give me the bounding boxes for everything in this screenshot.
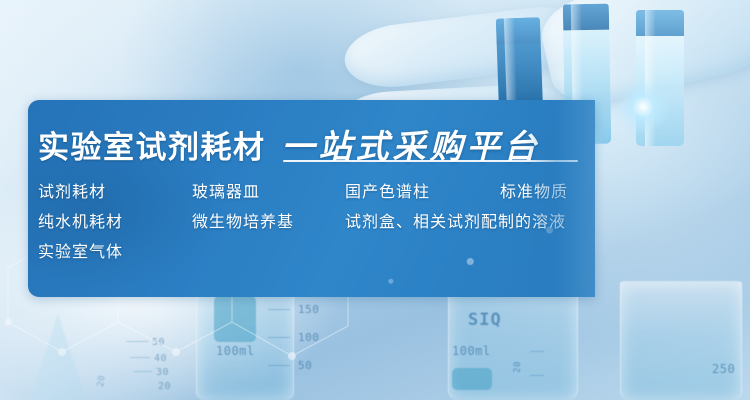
graduation-mark [530,375,544,377]
graduation-label-50b: 50 [298,359,312,372]
graduation-label-20: 20 [158,381,171,392]
tube-cap [563,4,609,31]
graduation-label-250b: 250 [712,362,735,376]
headline-main-text: 实验室试剂耗材 [38,122,266,167]
graduation-label-50: 50 [152,337,165,348]
headline-underline [283,160,578,162]
promotional-banner: 50 40 30 20 20 250 APPROX 200 150 100 50… [0,0,750,400]
graduation-mark [130,357,150,359]
graduation-mark [530,351,544,353]
graduation-label-100ml: 100ml [452,344,491,358]
flask-left [30,314,86,400]
beaker-brand-label: SIQ [468,310,502,330]
content-panel: 实验室试剂耗材 一站式采购平台 试剂耗材 玻璃器皿 国产色谱柱 标准物质 纯水机… [28,100,595,297]
graduation-label-gg17-left: 20 [96,374,108,387]
keyword-item[interactable]: 实验室气体 [38,238,123,268]
graduation-mark [126,341,148,343]
graduation-mark [268,365,290,367]
tube-cap [496,17,541,45]
keyword-item[interactable]: 试剂盒、相关试剂配制的溶液 [345,208,566,238]
graduation-label-150: 150 [298,303,319,316]
graduation-mark [268,309,290,311]
keyword-item[interactable]: 纯水机耗材 [38,208,123,238]
keyword-item[interactable]: 微生物培养基 [192,208,294,238]
beaker-liquid [214,296,256,342]
beaker-right-liquid [452,368,492,390]
graduation-label-100: 100 [298,331,319,344]
graduation-label-gg17-right: 20 [513,361,523,373]
graduation-label-30: 30 [156,367,169,378]
keyword-item[interactable]: 试剂耗材 [38,178,106,208]
graduation-mark [268,337,290,339]
keyword-item[interactable]: 标准物质 [500,178,568,208]
graduation-label-volume: 100ml [216,344,255,358]
keyword-item[interactable]: 玻璃器皿 [192,178,260,208]
tube-cap [636,10,684,36]
graduation-label-40: 40 [154,353,167,364]
panel-inner: 实验室试剂耗材 一站式采购平台 试剂耗材 玻璃器皿 国产色谱柱 标准物质 纯水机… [28,100,595,297]
graduation-mark [134,371,152,373]
keyword-item[interactable]: 国产色谱柱 [345,178,430,208]
light-sparkle [616,80,670,134]
